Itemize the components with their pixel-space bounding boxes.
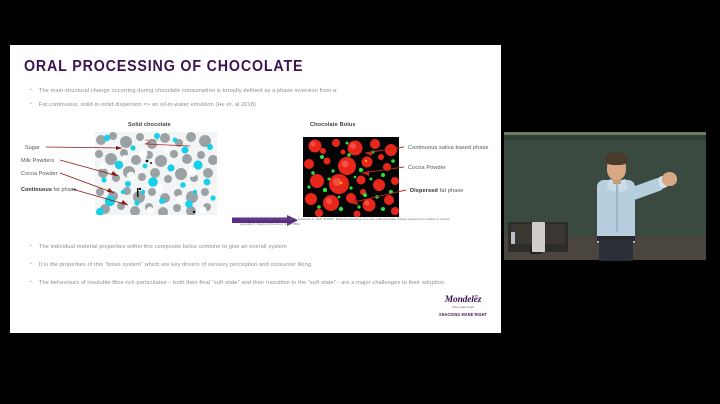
mondelez-logo: Mondelēz International SNACKING MADE RIG…	[430, 295, 496, 317]
presenter-shirt-placket	[616, 184, 618, 232]
presenter-hair	[605, 152, 628, 165]
bullet-item: ▪ The behaviours of insoluble fibre rich…	[30, 279, 490, 288]
presentation-slide: ORAL PROCESSING OF CHOCOLATE ▪ The main …	[10, 45, 501, 333]
bullet-item: ▪ The individual material properties wit…	[30, 243, 485, 252]
logo-subtitle: International	[430, 305, 496, 309]
bullet-text: The behaviours of insoluble fibre rich p…	[39, 279, 444, 288]
bullet-marker: ▪	[30, 101, 32, 108]
label-cocoa-powder-right: Cocoa Powder	[408, 165, 446, 171]
bullet-marker: ▪	[30, 279, 32, 286]
bullet-item: ▪ It is the properties of this “bolus sy…	[30, 261, 485, 270]
presenter-belt	[597, 236, 635, 241]
bolus-texture	[303, 137, 399, 217]
chalkboard-shadow	[504, 135, 706, 140]
computer-tower	[532, 222, 545, 252]
bottle	[511, 232, 515, 244]
label-continuous-saliva-phase: Continuous saliva based phase	[408, 145, 489, 151]
bullet-text: It is the properties of this “bolus syst…	[39, 261, 313, 270]
bullet-text: Fat continuous, solid-in-solid dispersio…	[39, 101, 256, 110]
bullet-marker: ▪	[30, 261, 32, 268]
citation-text: He Q, Bramante F, Davies A, Ellemann C, …	[240, 217, 455, 226]
chocolate-bolus-micrograph	[303, 137, 399, 217]
bullet-marker: ▪	[30, 87, 32, 94]
logo-tagline: SNACKING MADE RIGHT	[433, 312, 492, 317]
presenter-hand	[662, 172, 677, 186]
label-cocoa-powder-left: Cocoa Powder	[21, 171, 58, 177]
label-milk-powders: Milk Powders	[21, 158, 54, 164]
bullet-item: ▪ The main structural change occurring d…	[30, 87, 480, 96]
presenter-video-feed[interactable]	[504, 110, 720, 290]
presenter-legs	[599, 241, 633, 261]
label-sugar: Sugar	[25, 145, 40, 151]
label-dispersed-fat-phase: Dispersed fat phase	[410, 188, 464, 194]
label-continuous-fat-phase: Continuous fat phase	[21, 187, 77, 193]
solid-chocolate-micrograph: Air bubble	[95, 132, 217, 215]
bullet-marker: ▪	[30, 243, 32, 250]
figure-heading-right: Chocolate Bolus	[310, 122, 356, 128]
bullet-text: The individual material properties withi…	[39, 243, 287, 252]
page-title: ORAL PROCESSING OF CHOCOLATE	[24, 58, 303, 76]
logo-wordmark: Mondelēz	[430, 295, 496, 305]
inner-annotation-leader	[95, 132, 217, 215]
screen-capture: ORAL PROCESSING OF CHOCOLATE ▪ The main …	[0, 0, 720, 404]
bullet-item: ▪ Fat continuous, solid-in-solid dispers…	[30, 101, 480, 110]
bullet-text: The main structural change occurring dur…	[39, 87, 338, 96]
figure-heading-left: Solid chocolate	[128, 122, 171, 128]
